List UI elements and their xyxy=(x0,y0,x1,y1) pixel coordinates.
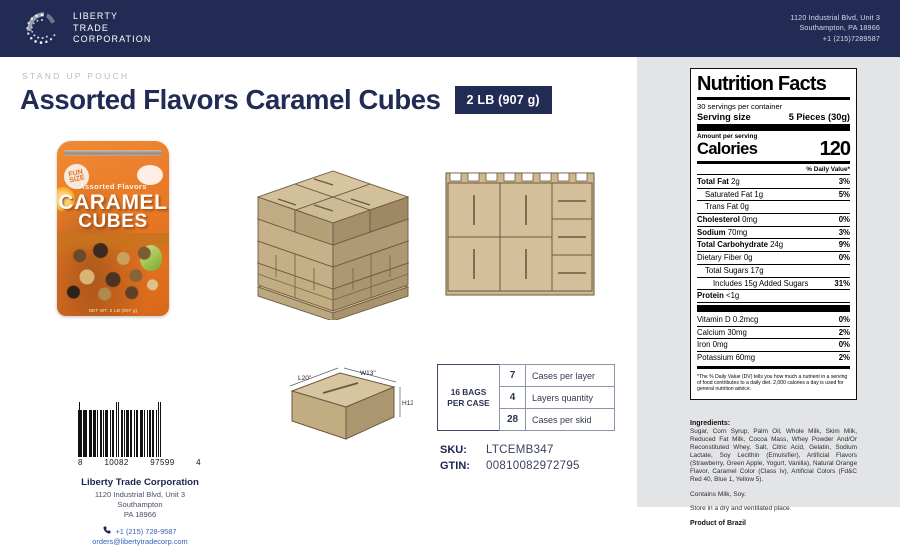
header-address-line-1: 1120 Industrial Blvd, Unit 3 xyxy=(790,13,880,24)
gtin-key: GTIN: xyxy=(440,460,478,472)
company-address-line-2: Southampton xyxy=(30,500,250,510)
nutrient-name: Includes 15g Added Sugars xyxy=(697,279,808,289)
nutrient-amount: 24g xyxy=(770,240,783,249)
sku-row: SKU: LTCEMB347 xyxy=(440,444,580,456)
nutrient-name: Total Fat xyxy=(697,177,729,186)
net-weight-badge: 2 LB (907 g) xyxy=(455,86,552,114)
title-row: Assorted Flavors Caramel Cubes 2 LB (907… xyxy=(20,84,552,116)
nutrient-dv: 31% xyxy=(834,279,850,289)
gtin-row: GTIN: 00810082972795 xyxy=(440,460,580,472)
ingredients-title: Ingredients: xyxy=(690,420,857,427)
vitamin-dv: 0% xyxy=(839,315,850,325)
nutrient-name: Protein xyxy=(697,291,724,300)
vitamin-row-calcium: Calcium 30mg 2% xyxy=(697,327,850,340)
company-address: 1120 Industrial Blvd, Unit 3 Southampton… xyxy=(30,490,250,520)
storage-statement: Store in a dry and ventilated place. xyxy=(690,505,857,512)
brand-line-2: TRADE xyxy=(73,23,151,35)
gtin-value: 00810082972795 xyxy=(486,460,580,472)
vitamin-name: Iron 0mg xyxy=(697,340,728,350)
table-row: 16 BAGS PER CASE 7 Cases per layer xyxy=(438,365,615,387)
daily-value-footnote: *The % Daily Value (DV) tells you how mu… xyxy=(697,371,850,393)
vitamin-dv: 2% xyxy=(839,353,850,363)
carton-dimension-illustration: L20" W13" H12" xyxy=(278,355,413,455)
barcode-digit-0: 8 xyxy=(78,458,83,467)
calories-label: Calories xyxy=(697,140,757,159)
company-email[interactable]: orders@libertytradecorp.com xyxy=(30,537,250,546)
nutrient-row-total-sugars: Total Sugars 17g xyxy=(697,265,850,278)
company-address-line-3: PA 18966 xyxy=(30,510,250,520)
nutrient-name: Saturated Fat xyxy=(705,190,752,199)
nutrient-dv: 3% xyxy=(839,228,850,238)
nutrient-row-dietary-fiber: Dietary Fiber 0g 0% xyxy=(697,252,850,265)
pallet-stack-illustration xyxy=(248,155,418,325)
ingredients-block: Ingredients: Sugar, Corn Syrup, Palm Oil… xyxy=(690,420,857,527)
vitamin-name: Potassium 60mg xyxy=(697,353,755,363)
barcode-digit-1: 10082 xyxy=(104,458,128,467)
company-phone: +1 (215) 728-9587 xyxy=(115,527,176,536)
brand-block: LIBERTY TRADE CORPORATION xyxy=(22,9,151,49)
nutrient-dv: 0% xyxy=(839,253,850,263)
bags-per-case-cell: 16 BAGS PER CASE xyxy=(438,365,500,431)
barcode-digit-3: 4 xyxy=(196,458,201,467)
carton-length-label: L20" xyxy=(298,375,312,382)
header-address-line-2: Southampton, PA 18966 xyxy=(790,23,880,34)
pallet-layer-layout-diagram xyxy=(440,165,600,315)
nutrient-dv: 0% xyxy=(839,215,850,225)
nutrient-name: Total Sugars xyxy=(705,266,748,275)
nutrient-row-added-sugars: Includes 15g Added Sugars 31% xyxy=(697,278,850,291)
servings-per-container: 30 servings per container xyxy=(697,102,850,112)
nutrient-name: Trans Fat xyxy=(705,202,738,211)
company-phone-row[interactable]: +1 (215) 728-9587 xyxy=(30,526,250,536)
spec-sheet-body: STAND UP POUCH Assorted Flavors Caramel … xyxy=(0,57,900,507)
cases-per-layer-value: 7 xyxy=(500,365,526,387)
vitamin-name: Vitamin D 0.2mcg xyxy=(697,315,758,325)
pouch-net-weight: NET WT. 2 LB (907 g) xyxy=(57,308,169,313)
header-address-phone: +1 (215)7289587 xyxy=(790,34,880,45)
case-spec-table: 16 BAGS PER CASE 7 Cases per layer 4 Lay… xyxy=(437,364,615,431)
layers-quantity-label: Layers quantity xyxy=(526,387,615,409)
phone-icon xyxy=(103,526,111,536)
barcode-digit-2: 97599 xyxy=(150,458,174,467)
candy-pile-graphic xyxy=(61,236,165,302)
nutrient-dv: 9% xyxy=(839,240,850,250)
cases-per-skid-label: Cases per skid xyxy=(526,409,615,431)
nutrient-row-protein: Protein <1g xyxy=(697,290,850,303)
serving-size-value: 5 Pieces (30g) xyxy=(789,112,850,122)
company-name: Liberty Trade Corporation xyxy=(30,477,250,488)
company-info: Liberty Trade Corporation 1120 Industria… xyxy=(30,477,250,546)
page-header: LIBERTY TRADE CORPORATION 1120 Industria… xyxy=(0,0,900,57)
vitamin-row-iron: Iron 0mg 0% xyxy=(697,339,850,352)
pouch-artwork: FUN SIZE Assorted Flavors CARAMEL CUBES … xyxy=(57,141,169,316)
nutrient-dv: 5% xyxy=(839,190,850,200)
company-address-line-1: 1120 Industrial Blvd, Unit 3 xyxy=(30,490,250,500)
vitamin-dv: 2% xyxy=(839,328,850,338)
daily-value-header: % Daily Value* xyxy=(697,166,850,173)
barcode-digits: 8 10082 97599 4 xyxy=(78,458,201,467)
pouch-name-line-2: CUBES xyxy=(57,211,169,233)
nutrient-row-total-fat: Total Fat 2g 3% xyxy=(697,176,850,189)
nutrient-name: Cholesterol xyxy=(697,215,740,224)
product-pouch-image: FUN SIZE Assorted Flavors CARAMEL CUBES … xyxy=(57,141,169,316)
nutrient-name: Dietary Fiber xyxy=(697,253,742,262)
nutrient-row-total-carbohydrate: Total Carbohydrate 24g 9% xyxy=(697,239,850,252)
nutrient-row-trans-fat: Trans Fat 0g xyxy=(697,201,850,214)
nutrient-row-saturated-fat: Saturated Fat 1g 5% xyxy=(697,189,850,202)
nutrient-name: Total Carbohydrate xyxy=(697,240,768,249)
package-type-label: STAND UP POUCH xyxy=(22,71,129,81)
brand-line-1: LIBERTY xyxy=(73,11,151,23)
product-detail-panel: STAND UP POUCH Assorted Flavors Caramel … xyxy=(0,57,637,507)
upc-barcode-block: 8 10082 97599 4 xyxy=(78,402,203,467)
nutrient-amount: 70mg xyxy=(728,228,748,237)
nutrient-amount: 0g xyxy=(740,202,749,211)
carton-width-label: W13" xyxy=(360,370,376,377)
cases-per-skid-value: 28 xyxy=(500,409,526,431)
product-codes: SKU: LTCEMB347 GTIN: 00810082972795 xyxy=(440,444,580,476)
nutrient-amount: <1g xyxy=(726,291,739,300)
nutrition-facts-title: Nutrition Facts xyxy=(697,74,850,95)
nutrient-amount: 2g xyxy=(731,177,740,186)
nutrient-amount: 17g xyxy=(751,266,764,275)
barcode-graphic xyxy=(78,402,198,457)
sku-key: SKU: xyxy=(440,444,478,456)
sku-value: LTCEMB347 xyxy=(486,444,554,456)
nutrient-dv: 3% xyxy=(839,177,850,187)
allergen-statement: Contains Milk, Soy. xyxy=(690,491,857,498)
pouch-assorted-label: Assorted Flavors xyxy=(57,182,169,191)
nutrient-amount: 0g xyxy=(744,253,753,262)
nutrient-row-sodium: Sodium 70mg 3% xyxy=(697,227,850,240)
pouch-zipper xyxy=(64,150,162,156)
header-address: 1120 Industrial Blvd, Unit 3 Southampton… xyxy=(790,13,880,45)
country-of-origin: Product of Brazil xyxy=(690,520,857,527)
ingredients-body: Sugar, Corn Syrup, Palm Oil, Whole Milk,… xyxy=(690,428,857,484)
calories-value: 120 xyxy=(820,140,850,159)
nutrient-amount: 1g xyxy=(754,190,763,199)
vitamin-dv: 0% xyxy=(839,340,850,350)
calories-row: Calories 120 xyxy=(697,140,850,159)
nutrient-amount: 0mg xyxy=(742,215,757,224)
nutrient-row-cholesterol: Cholesterol 0mg 0% xyxy=(697,214,850,227)
vitamin-row-potassium: Potassium 60mg 2% xyxy=(697,352,850,364)
nutrient-name: Sodium xyxy=(697,228,726,237)
serving-size-row: Serving size 5 Pieces (30g) xyxy=(697,112,850,122)
brand-name: LIBERTY TRADE CORPORATION xyxy=(73,11,151,46)
carton-height-label: H12" xyxy=(402,400,413,407)
layers-quantity-value: 4 xyxy=(500,387,526,409)
serving-size-label: Serving size xyxy=(697,112,751,122)
page-title: Assorted Flavors Caramel Cubes xyxy=(20,84,441,116)
cases-per-layer-label: Cases per layer xyxy=(526,365,615,387)
spiral-ring-logo-icon xyxy=(22,9,62,49)
vitamin-name: Calcium 30mg xyxy=(697,328,747,338)
vitamin-row-vitamin-d: Vitamin D 0.2mcg 0% xyxy=(697,314,850,327)
nutrition-facts-panel: Nutrition Facts 30 servings per containe… xyxy=(690,68,857,400)
brand-line-3: CORPORATION xyxy=(73,34,151,46)
